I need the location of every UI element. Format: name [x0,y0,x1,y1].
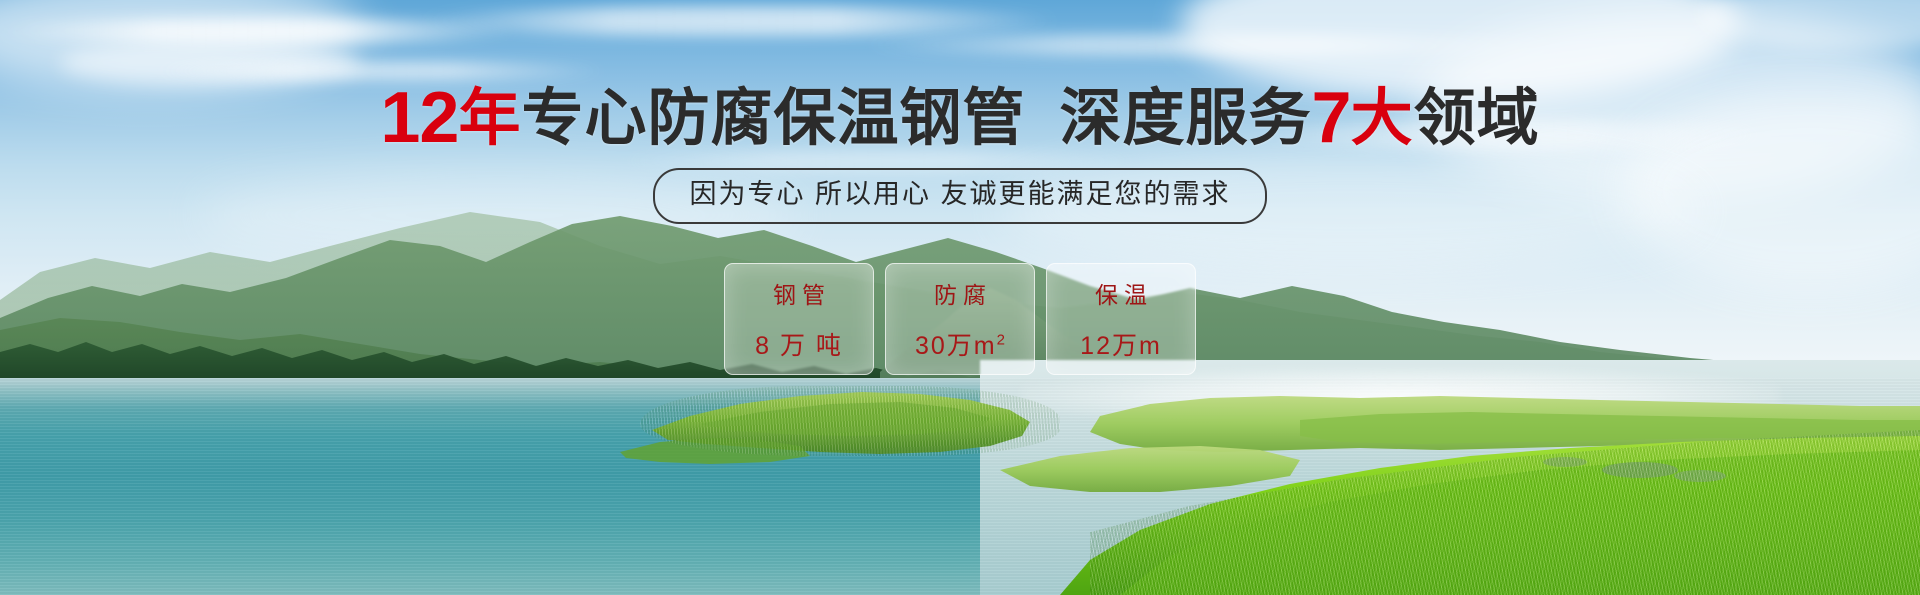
stat-card-title: 防腐 [928,276,992,310]
water-rock [1602,462,1678,478]
headline-main-text: 专心防腐保温钢管 [522,84,1026,153]
subtitle-container: 因为专心 所以用心 友诚更能满足您的需求 [0,168,1920,224]
stat-card-value: 12万m [1080,326,1162,362]
left-bank-grass [1000,446,1300,492]
headline-fields-unit: 大 [1351,84,1414,153]
stat-card-title: 钢管 [767,276,831,310]
page-title: 12年专心防腐保温钢管深度服务7大领域 [0,82,1920,154]
headline-years-number: 12 [380,78,458,158]
stat-card-insulation[interactable]: 保温 12万m [1046,263,1196,375]
stat-card-value-exponent: 2 [997,332,1005,349]
headline-fields-text: 领域 [1414,84,1540,153]
stat-card-title: 保温 [1089,276,1153,310]
stat-card-value: 8 万 吨 [755,326,843,362]
island-texture [640,386,1060,456]
stat-card-steel-pipe[interactable]: 钢管 8 万 吨 [724,263,874,375]
stat-card-anticorrosion[interactable]: 防腐 30万m2 [885,263,1035,375]
subtitle-pill: 因为专心 所以用心 友诚更能满足您的需求 [653,168,1266,224]
water-rock [1674,470,1726,482]
headline-service-text: 深度服务 [1060,84,1312,153]
headline-years-unit: 年 [458,84,521,153]
stats-card-group: 钢管 8 万 吨 防腐 30万m2 保温 12万m [0,263,1920,375]
hero-banner: 12年专心防腐保温钢管深度服务7大领域 因为专心 所以用心 友诚更能满足您的需求… [0,0,1920,595]
stat-card-value: 30万m2 [915,326,1005,362]
water-rock [1543,457,1587,467]
headline-fields-number: 7 [1312,78,1351,158]
stat-card-value-text: 30万m [915,332,997,360]
